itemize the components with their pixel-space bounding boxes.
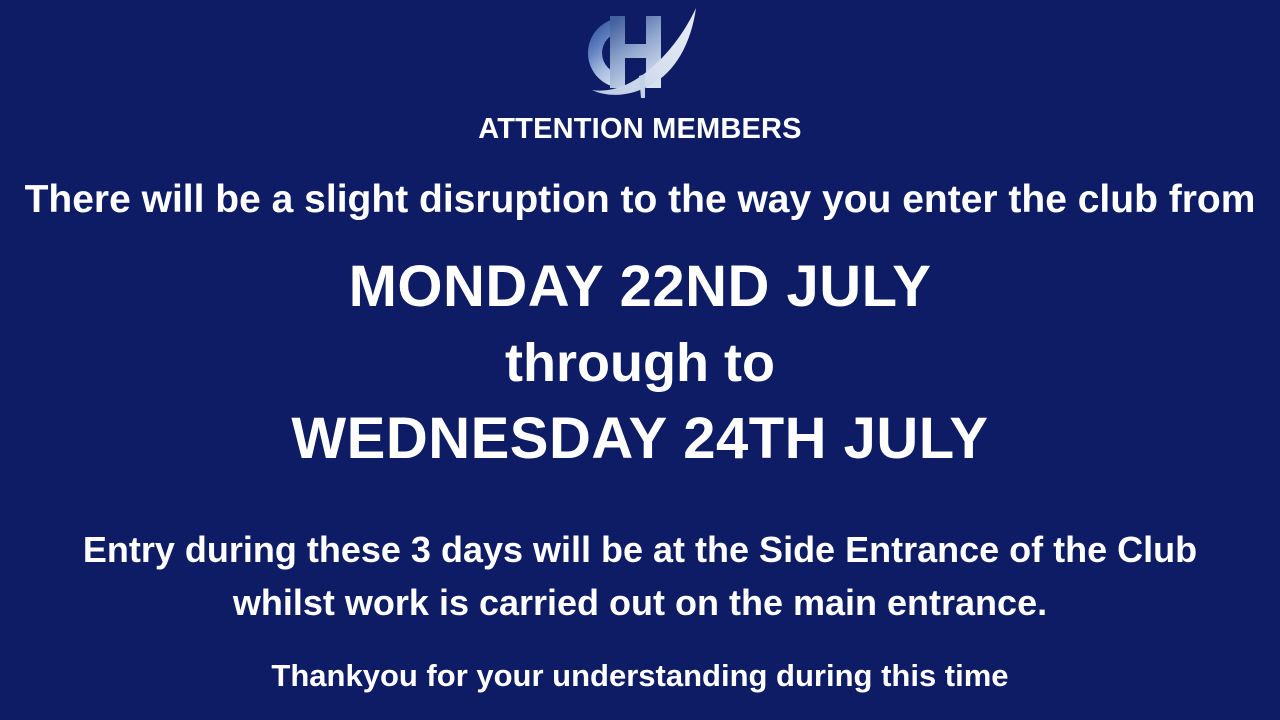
start-date: MONDAY 22ND JULY (0, 258, 1280, 316)
logo-letter-h (610, 16, 661, 88)
intro-text: There will be a slight disruption to the… (0, 176, 1280, 224)
logo-container (0, 2, 1280, 106)
date-connector: through to (0, 336, 1280, 390)
body-line-2: whilst work is carried out on the main e… (0, 577, 1280, 630)
attention-heading: ATTENTION MEMBERS (0, 112, 1280, 147)
logo-swoosh-icon (592, 8, 696, 98)
date-range-block: MONDAY 22ND JULY through to WEDNESDAY 24… (0, 258, 1280, 468)
thankyou-text: Thankyou for your understanding during t… (0, 656, 1280, 696)
body-copy: Entry during these 3 days will be at the… (0, 524, 1280, 629)
notice-poster: ATTENTION MEMBERS There will be a slight… (0, 0, 1280, 720)
body-line-1: Entry during these 3 days will be at the… (0, 524, 1280, 577)
end-date: WEDNESDAY 24TH JULY (0, 410, 1280, 468)
ch-monogram-logo (565, 2, 715, 102)
logo-letter-c (588, 18, 623, 88)
